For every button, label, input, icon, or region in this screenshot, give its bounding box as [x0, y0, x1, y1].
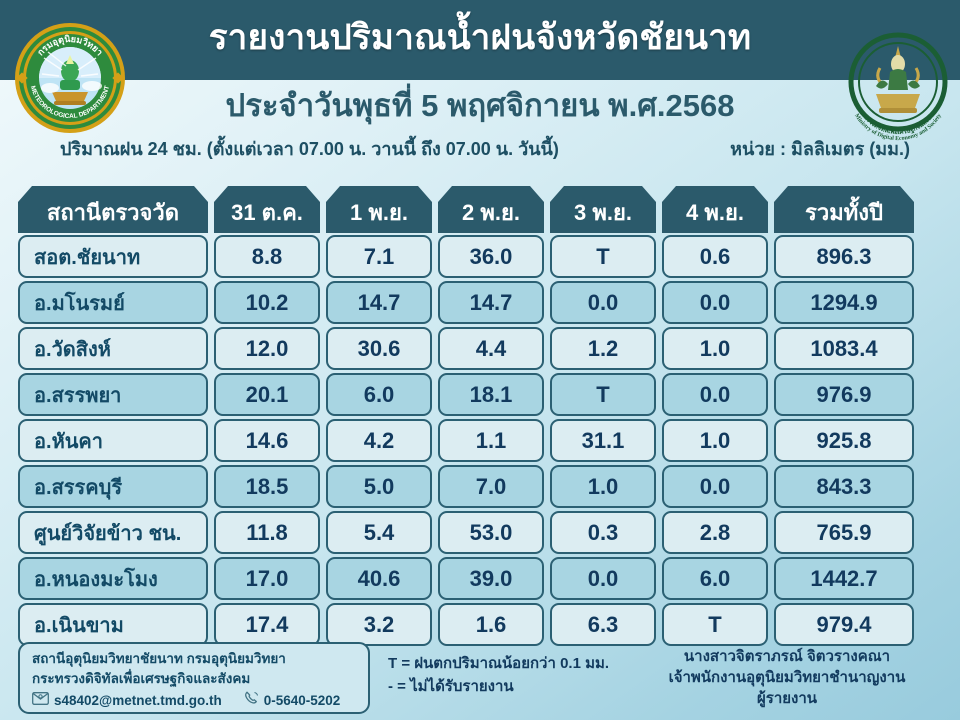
reporter-position: เจ้าพนักงานอุตุนิยมวิทยาชำนาญงาน: [622, 667, 952, 688]
legend-noreport-note: - = ไม่ได้รับรายงาน: [388, 675, 638, 698]
contact-details: s48402@metnet.tmd.go.th 0-5640-5202: [32, 691, 358, 711]
rain-value: 17.0: [214, 557, 320, 600]
station-name: อ.หันคา: [18, 419, 208, 462]
rain-value: 3.2: [326, 603, 432, 646]
rain-value: 1.6: [438, 603, 544, 646]
reporter-role: ผู้รายงาน: [622, 688, 952, 709]
rain-value: 7.0: [438, 465, 544, 508]
rain-value: 10.2: [214, 281, 320, 324]
column-header-day-3: 2 พ.ย.: [438, 186, 544, 233]
rain-value: 14.7: [438, 281, 544, 324]
rain-value: 17.4: [214, 603, 320, 646]
contact-box: สถานีอุตุนิยมวิทยาชัยนาท กรมอุตุนิยมวิทย…: [18, 642, 370, 714]
table-row: อ.หันคา 14.6 4.2 1.1 31.1 1.0 925.8: [18, 419, 942, 462]
rain-value: T: [550, 235, 656, 278]
rain-value: 0.6: [662, 235, 768, 278]
rain-total: 896.3: [774, 235, 914, 278]
rain-value: 14.6: [214, 419, 320, 462]
email-address[interactable]: s48402@metnet.tmd.go.th: [54, 691, 222, 711]
rain-value: 14.7: [326, 281, 432, 324]
rain-value: 1.0: [662, 419, 768, 462]
station-name: อ.วัดสิงห์: [18, 327, 208, 370]
rain-value: 4.4: [438, 327, 544, 370]
table-header-row: สถานีตรวจวัด 31 ต.ค. 1 พ.ย. 2 พ.ย. 3 พ.ย…: [18, 186, 942, 233]
column-header-day-5: 4 พ.ย.: [662, 186, 768, 233]
rain-value: 5.0: [326, 465, 432, 508]
station-name: อ.มโนรมย์: [18, 281, 208, 324]
rain-value: 1.0: [550, 465, 656, 508]
rain-value: 1.2: [550, 327, 656, 370]
rain-value: 39.0: [438, 557, 544, 600]
column-header-station: สถานีตรวจวัด: [18, 186, 208, 233]
rain-value: 11.8: [214, 511, 320, 554]
rain-value: 8.8: [214, 235, 320, 278]
table-row: ศูนย์วิจัยข้าว ชน. 11.8 5.4 53.0 0.3 2.8…: [18, 511, 942, 554]
rain-total: 843.3: [774, 465, 914, 508]
column-header-day-4: 3 พ.ย.: [550, 186, 656, 233]
rain-value: 6.0: [326, 373, 432, 416]
rain-value: 0.3: [550, 511, 656, 554]
rain-value: 0.0: [662, 281, 768, 324]
rain-total: 1294.9: [774, 281, 914, 324]
tmd-seal-logo: กรมอุตุนิยมวิทยา METEOROLOGICAL DEPARTME…: [14, 22, 126, 134]
rain-value: T: [550, 373, 656, 416]
station-name: สอต.ชัยนาท: [18, 235, 208, 278]
rain-value: 31.1: [550, 419, 656, 462]
rain-total: 925.8: [774, 419, 914, 462]
rain-total: 979.4: [774, 603, 914, 646]
rain-total: 1083.4: [774, 327, 914, 370]
rain-value: 4.2: [326, 419, 432, 462]
table-row: อ.สรรคบุรี 18.5 5.0 7.0 1.0 0.0 843.3: [18, 465, 942, 508]
organization-line-1: สถานีอุตุนิยมวิทยาชัยนาท กรมอุตุนิยมวิทย…: [32, 649, 358, 669]
rain-value: 20.1: [214, 373, 320, 416]
rain-value: 5.4: [326, 511, 432, 554]
period-note: ปริมาณฝน 24 ชม. (ตั้งแต่เวลา 07.00 น. วา…: [60, 134, 559, 163]
rain-total: 765.9: [774, 511, 914, 554]
rain-value: 6.3: [550, 603, 656, 646]
envelope-icon: [32, 691, 49, 711]
rain-value: 0.0: [550, 557, 656, 600]
rain-value: 1.1: [438, 419, 544, 462]
table-row: อ.หนองมะโมง 17.0 40.6 39.0 0.0 6.0 1442.…: [18, 557, 942, 600]
rain-value: 0.0: [662, 465, 768, 508]
rain-value: 6.0: [662, 557, 768, 600]
rain-total: 1442.7: [774, 557, 914, 600]
station-name: อ.หนองมะโมง: [18, 557, 208, 600]
rain-value: 18.5: [214, 465, 320, 508]
header-meta-row: ปริมาณฝน 24 ชม. (ตั้งแต่เวลา 07.00 น. วา…: [60, 134, 910, 163]
rain-value: 2.8: [662, 511, 768, 554]
mdes-emblem-logo: กระทรวงดิจิทัลเพื่อเศรษฐกิจและสังคม Mini…: [846, 24, 950, 148]
legend: T = ฝนตกปริมาณน้อยกว่า 0.1 มม. - = ไม่ได…: [388, 652, 638, 698]
table-row: สอต.ชัยนาท 8.8 7.1 36.0 T 0.6 896.3: [18, 235, 942, 278]
footer: สถานีอุตุนิยมวิทยาชัยนาท กรมอุตุนิยมวิทย…: [0, 642, 960, 720]
rain-value: 30.6: [326, 327, 432, 370]
column-header-day-1: 31 ต.ค.: [214, 186, 320, 233]
telephone-icon: [244, 691, 259, 711]
rain-value: T: [662, 603, 768, 646]
table-row: อ.วัดสิงห์ 12.0 30.6 4.4 1.2 1.0 1083.4: [18, 327, 942, 370]
station-name: อ.สรรพยา: [18, 373, 208, 416]
rain-value: 0.0: [662, 373, 768, 416]
table-row: อ.มโนรมย์ 10.2 14.7 14.7 0.0 0.0 1294.9: [18, 281, 942, 324]
rain-value: 1.0: [662, 327, 768, 370]
station-name: ศูนย์วิจัยข้าว ชน.: [18, 511, 208, 554]
reporter-name: นางสาวจิตราภรณ์ จิตวรางคณา: [622, 646, 952, 667]
rain-value: 0.0: [550, 281, 656, 324]
rain-value: 12.0: [214, 327, 320, 370]
legend-trace-note: T = ฝนตกปริมาณน้อยกว่า 0.1 มม.: [388, 652, 638, 675]
station-name: อ.สรรคบุรี: [18, 465, 208, 508]
table-row: อ.เนินขาม 17.4 3.2 1.6 6.3 T 979.4: [18, 603, 942, 646]
rain-total: 976.9: [774, 373, 914, 416]
station-name: อ.เนินขาม: [18, 603, 208, 646]
phone-number[interactable]: 0-5640-5202: [264, 691, 341, 711]
page-title: รายงานปริมาณน้ำฝนจังหวัดชัยนาท: [0, 14, 960, 62]
column-header-day-2: 1 พ.ย.: [326, 186, 432, 233]
organization-line-2: กระทรวงดิจิทัลเพื่อเศรษฐกิจและสังคม: [32, 669, 358, 689]
rain-value: 36.0: [438, 235, 544, 278]
rain-value: 7.1: [326, 235, 432, 278]
signature-block: นางสาวจิตราภรณ์ จิตวรางคณา เจ้าพนักงานอุ…: [622, 646, 952, 709]
report-date-subtitle: ประจำวันพุธที่ 5 พฤศจิกายน พ.ศ.2568: [0, 86, 960, 126]
column-header-total: รวมทั้งปี: [774, 186, 914, 233]
rain-value: 18.1: [438, 373, 544, 416]
rain-value: 53.0: [438, 511, 544, 554]
table-row: อ.สรรพยา 20.1 6.0 18.1 T 0.0 976.9: [18, 373, 942, 416]
rainfall-table: สถานีตรวจวัด 31 ต.ค. 1 พ.ย. 2 พ.ย. 3 พ.ย…: [18, 186, 942, 649]
rain-value: 40.6: [326, 557, 432, 600]
